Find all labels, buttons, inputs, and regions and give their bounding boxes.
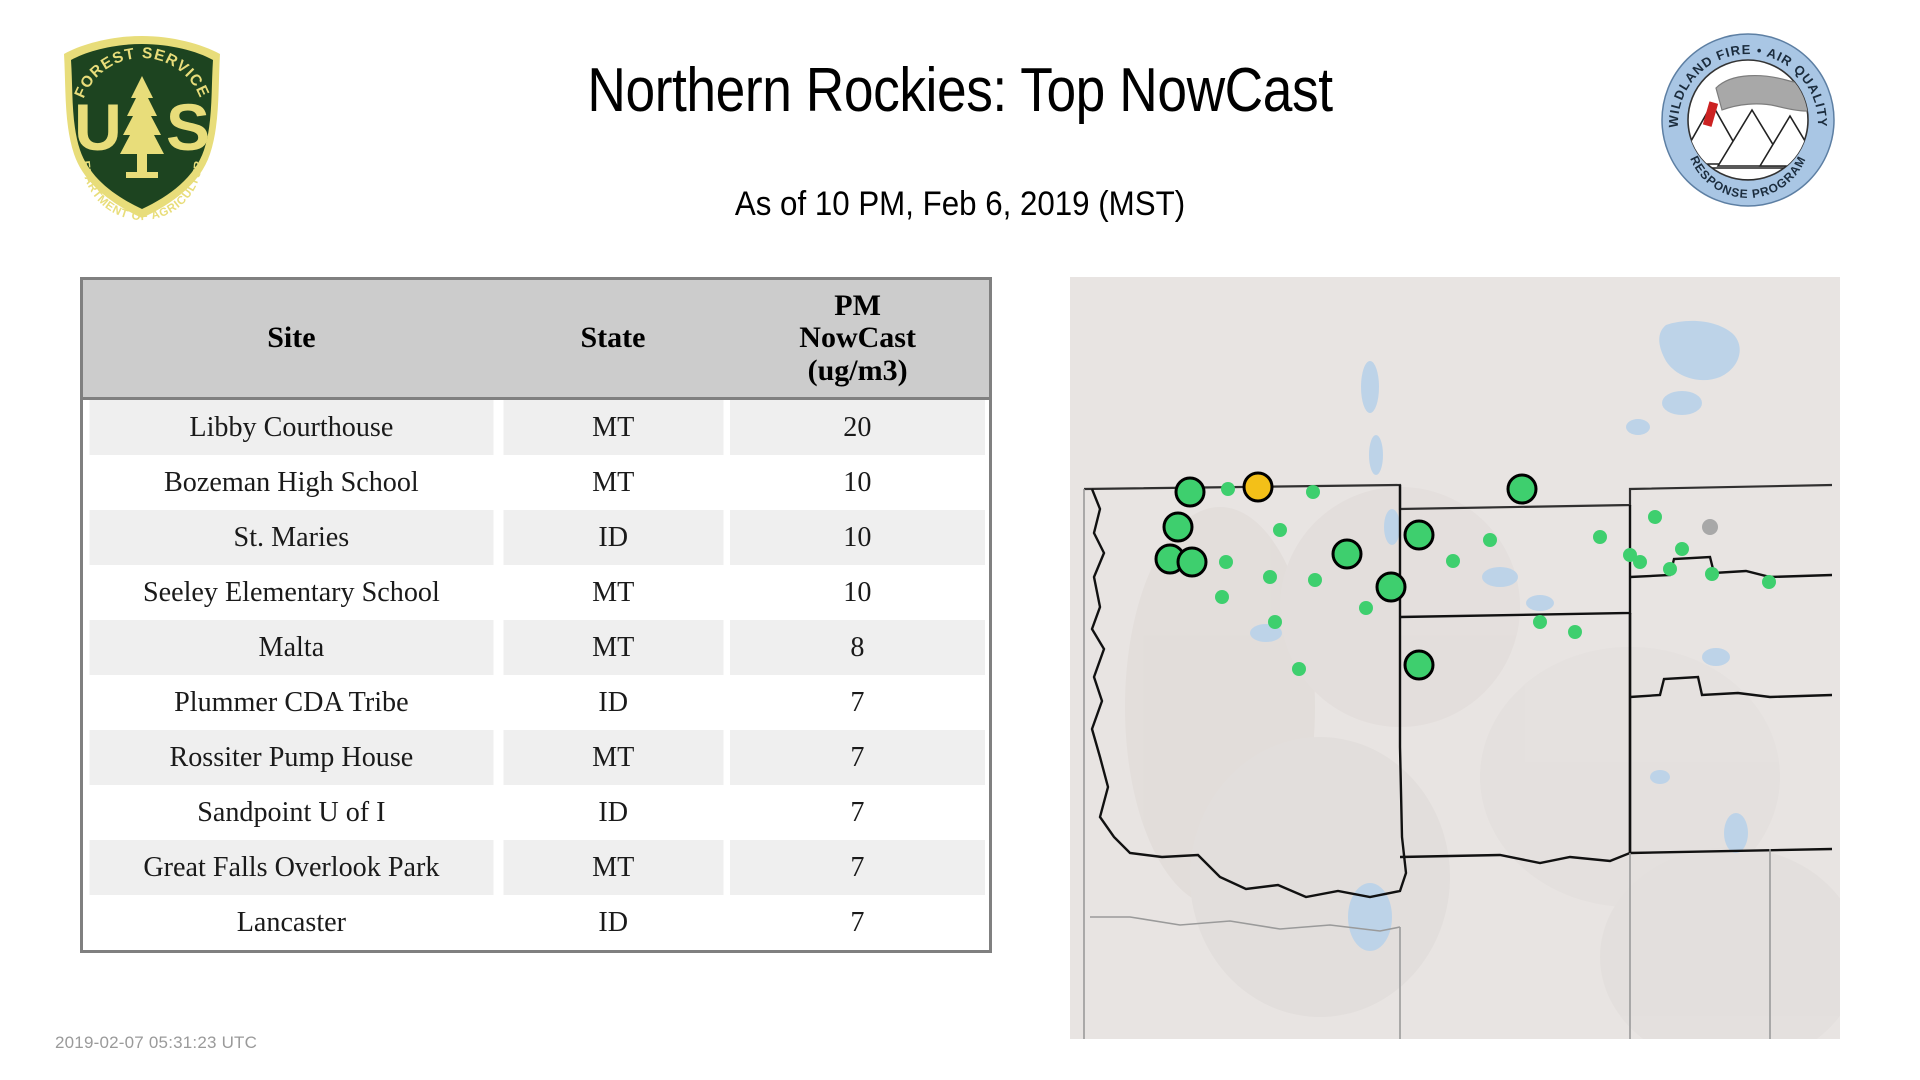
cell-value: 7 <box>730 730 985 785</box>
table-header: Site State PM NowCast (ug/m3) <box>83 280 989 399</box>
cell-site: Great Falls Overlook Park <box>89 840 493 895</box>
cell-site: Malta <box>89 620 493 675</box>
page-title: Northern Rockies: Top NowCast <box>134 55 1785 126</box>
table-header-row: Site State PM NowCast (ug/m3) <box>83 280 989 399</box>
cell-state: MT <box>503 565 723 620</box>
cell-value: 7 <box>730 675 985 730</box>
nowcast-dashboard-page: FOREST SERVICE U S DEPARTMENT OF AGRICUL… <box>0 0 1920 1080</box>
cell-site: Lancaster <box>89 895 493 950</box>
column-header-pm-nowcast[interactable]: PM NowCast (ug/m3) <box>726 280 989 399</box>
nowcast-table: Site State PM NowCast (ug/m3) Libby Cour… <box>83 280 989 950</box>
generated-timestamp: 2019-02-07 05:31:23 UTC <box>55 1033 257 1053</box>
cell-site: Bozeman High School <box>89 455 493 510</box>
usfs-letter-u: U <box>74 90 122 164</box>
table-row[interactable]: Plummer CDA Tribe ID 7 <box>83 675 989 730</box>
cell-state: MT <box>503 620 723 675</box>
table-row[interactable]: Seeley Elementary School MT 10 <box>83 565 989 620</box>
page-subtitle: As of 10 PM, Feb 6, 2019 (MST) <box>77 185 1843 224</box>
cell-state: ID <box>503 675 723 730</box>
cell-state: ID <box>503 510 723 565</box>
table-row[interactable]: Rossiter Pump House MT 7 <box>83 730 989 785</box>
cell-state: MT <box>503 399 723 456</box>
cell-state: MT <box>503 730 723 785</box>
cell-value: 10 <box>730 510 985 565</box>
cell-site: Rossiter Pump House <box>89 730 493 785</box>
cell-value: 20 <box>730 399 985 456</box>
table-row[interactable]: Great Falls Overlook Park MT 7 <box>83 840 989 895</box>
table-body: Libby Courthouse MT 20 Bozeman High Scho… <box>83 399 989 951</box>
table-row[interactable]: Malta MT 8 <box>83 620 989 675</box>
cell-site: Libby Courthouse <box>89 399 493 456</box>
cell-state: MT <box>503 840 723 895</box>
map-panel[interactable] <box>1070 277 1840 1039</box>
table-row[interactable]: Libby Courthouse MT 20 <box>83 399 989 456</box>
cell-state: ID <box>503 895 723 950</box>
header-line-nowcast: NowCast <box>730 322 985 354</box>
table-row[interactable]: Bozeman High School MT 10 <box>83 455 989 510</box>
map-svg[interactable] <box>1070 277 1840 1039</box>
cell-site: St. Maries <box>89 510 493 565</box>
cell-site: Seeley Elementary School <box>89 565 493 620</box>
cell-site: Plummer CDA Tribe <box>89 675 493 730</box>
nowcast-table-container: Site State PM NowCast (ug/m3) Libby Cour… <box>80 277 992 953</box>
cell-value: 10 <box>730 565 985 620</box>
table-row[interactable]: Sandpoint U of I ID 7 <box>83 785 989 840</box>
cell-value: 7 <box>730 785 985 840</box>
cell-state: ID <box>503 785 723 840</box>
table-row[interactable]: St. Maries ID 10 <box>83 510 989 565</box>
header-line-units: (ug/m3) <box>730 355 985 387</box>
header-line-pm: PM <box>730 290 985 322</box>
map-inactive-monitor-marker[interactable] <box>1702 519 1718 535</box>
wildland-fire-air-quality-logo: WILDLAND FIRE • AIR QUALITY RESPONSE PRO… <box>1660 32 1836 208</box>
cell-value: 7 <box>730 840 985 895</box>
cell-state: MT <box>503 455 723 510</box>
cell-value: 7 <box>730 895 985 950</box>
column-header-state[interactable]: State <box>500 280 727 399</box>
wfaqrp-svg: WILDLAND FIRE • AIR QUALITY RESPONSE PRO… <box>1660 32 1836 208</box>
table-row[interactable]: Lancaster ID 7 <box>83 895 989 950</box>
cell-value: 8 <box>730 620 985 675</box>
cell-value: 10 <box>730 455 985 510</box>
column-header-site[interactable]: Site <box>83 280 500 399</box>
cell-site: Sandpoint U of I <box>89 785 493 840</box>
